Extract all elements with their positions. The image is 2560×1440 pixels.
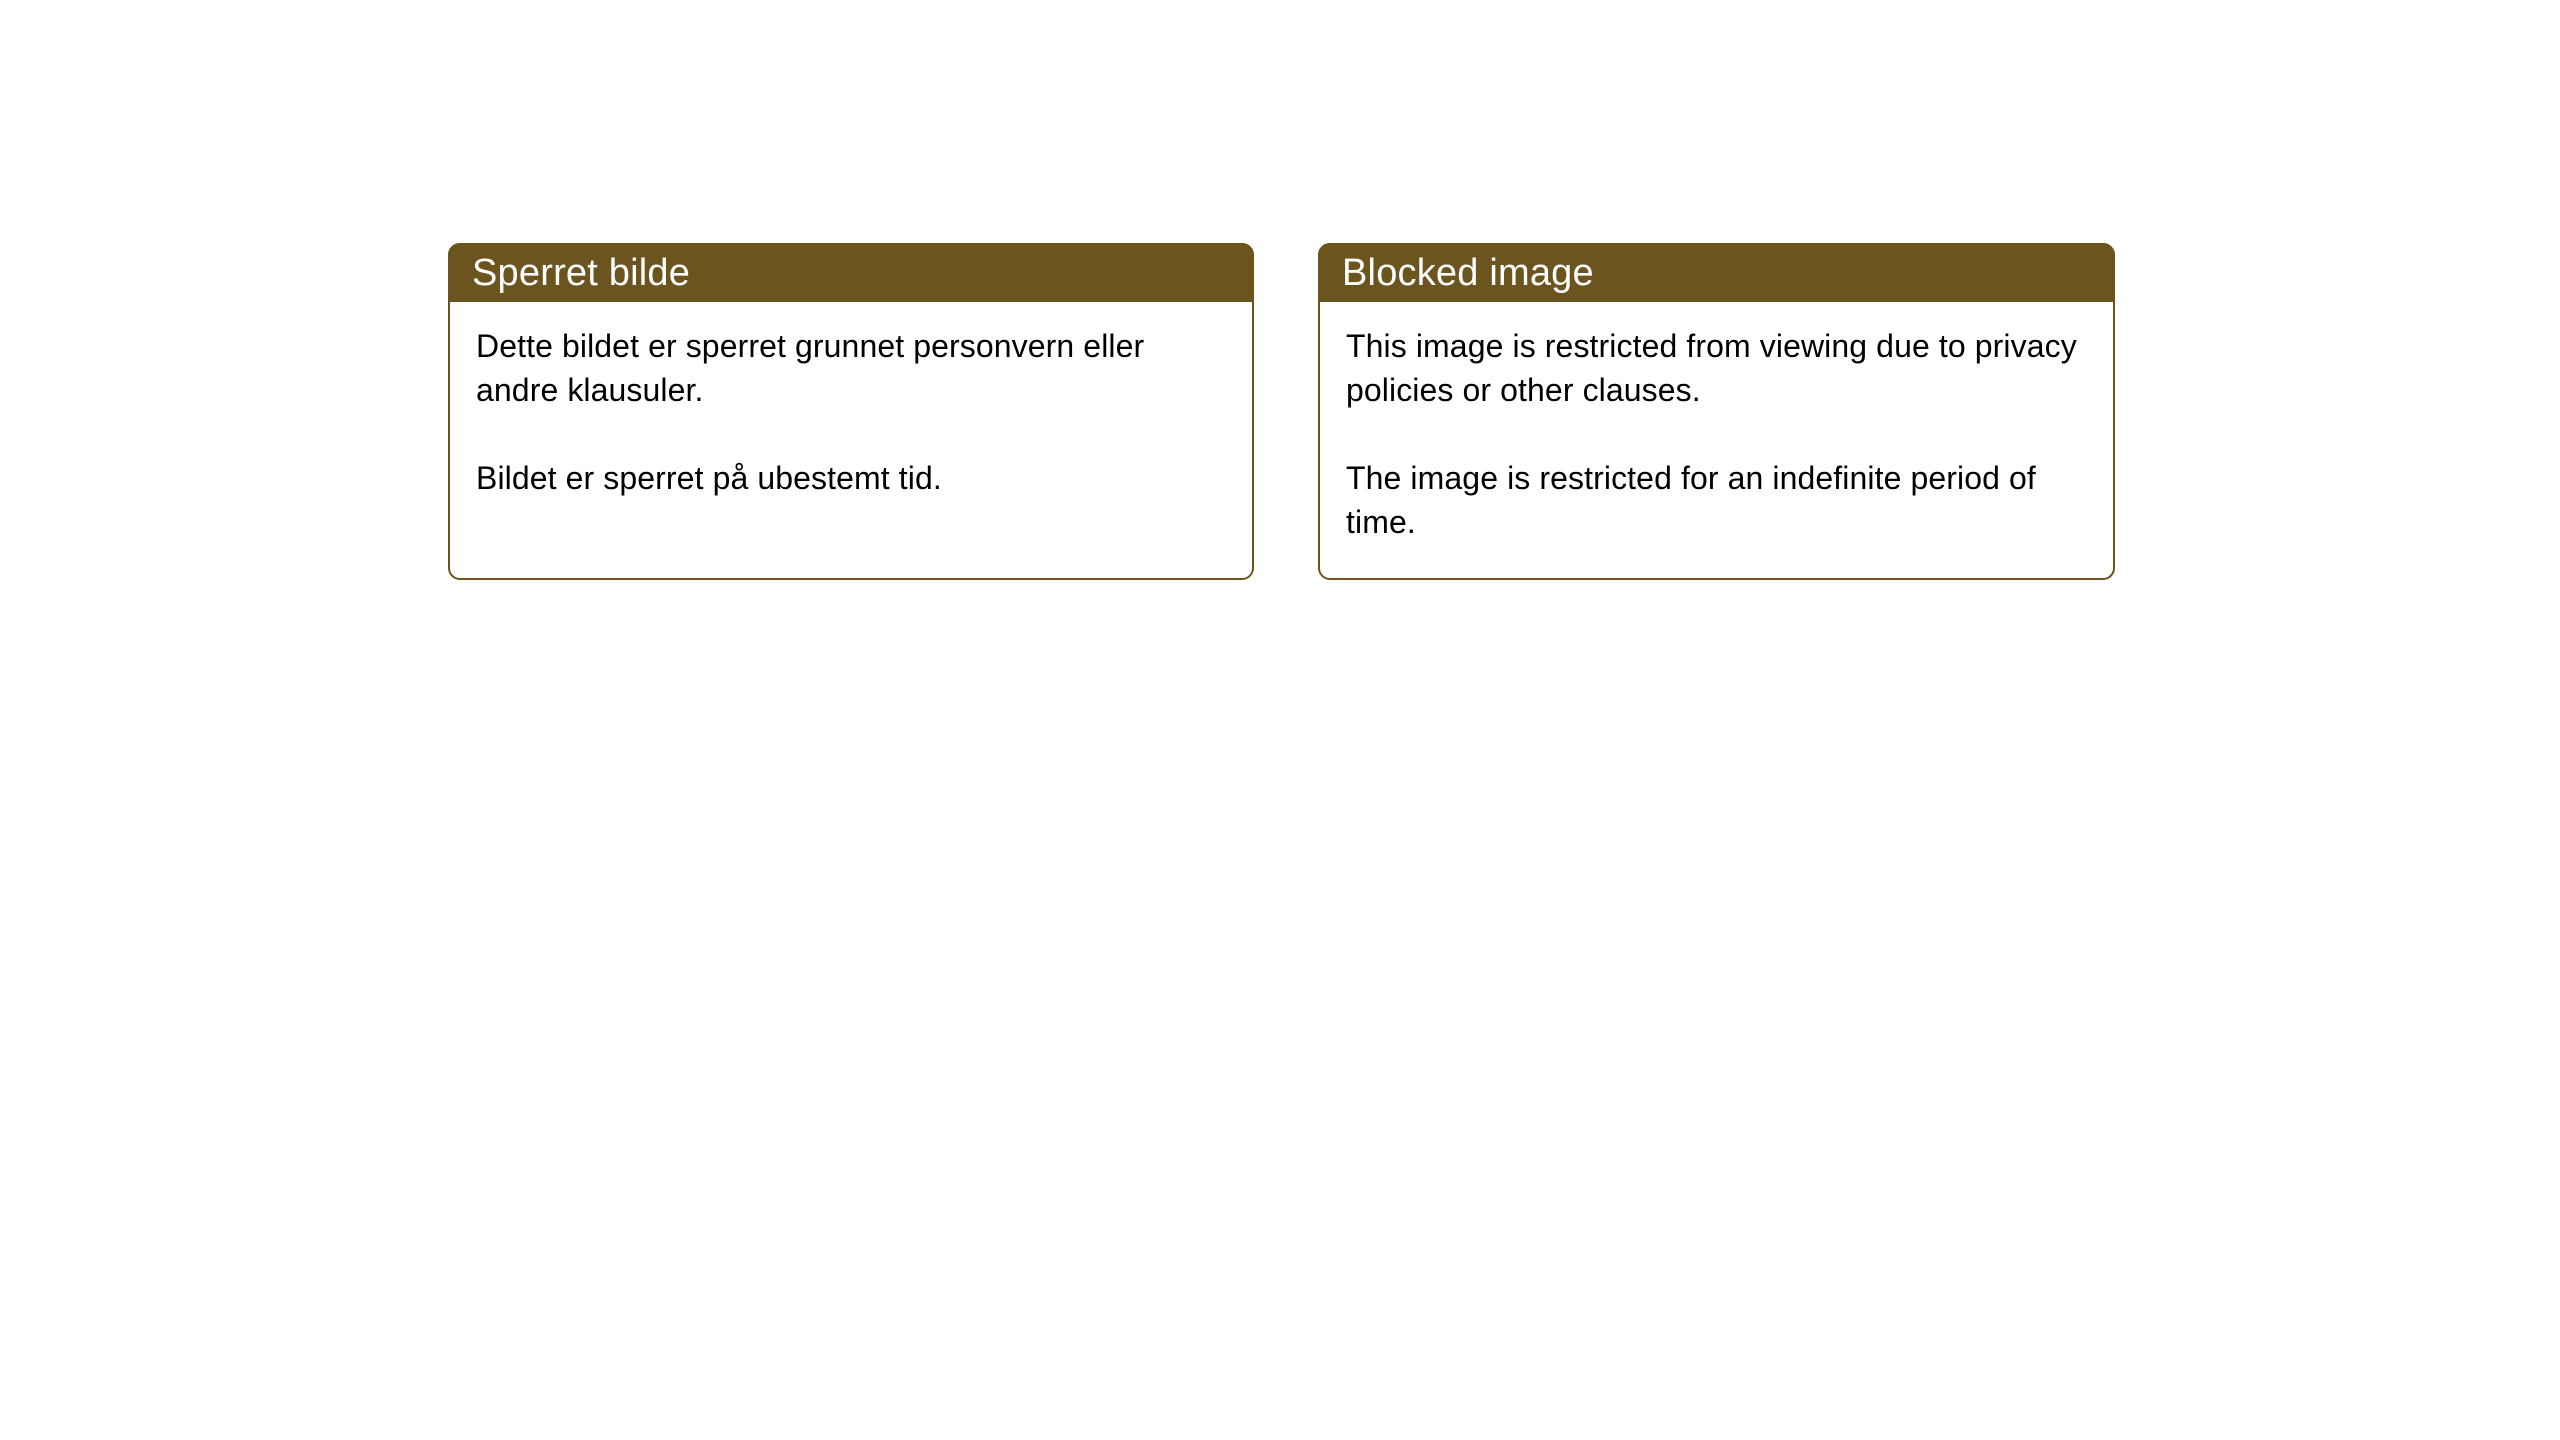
panel-header-english: Blocked image	[1318, 243, 2115, 302]
panel-paragraph-reason-norwegian: Dette bildet er sperret grunnet personve…	[476, 324, 1226, 412]
panel-paragraph-duration-norwegian: Bildet er sperret på ubestemt tid.	[476, 456, 1226, 500]
blocked-image-panel-english: Blocked image This image is restricted f…	[1318, 243, 2115, 580]
panel-title-norwegian: Sperret bilde	[472, 254, 690, 292]
notice-stage: Sperret bilde Dette bildet er sperret gr…	[0, 0, 2560, 1440]
panel-paragraph-duration-english: The image is restricted for an indefinit…	[1346, 456, 2087, 544]
panel-title-english: Blocked image	[1342, 254, 1594, 292]
panel-paragraph-reason-english: This image is restricted from viewing du…	[1346, 324, 2087, 412]
blocked-image-panel-norwegian: Sperret bilde Dette bildet er sperret gr…	[448, 243, 1254, 580]
panel-body-norwegian: Dette bildet er sperret grunnet personve…	[450, 302, 1252, 578]
panel-header-norwegian: Sperret bilde	[448, 243, 1254, 302]
panel-body-english: This image is restricted from viewing du…	[1320, 302, 2113, 578]
